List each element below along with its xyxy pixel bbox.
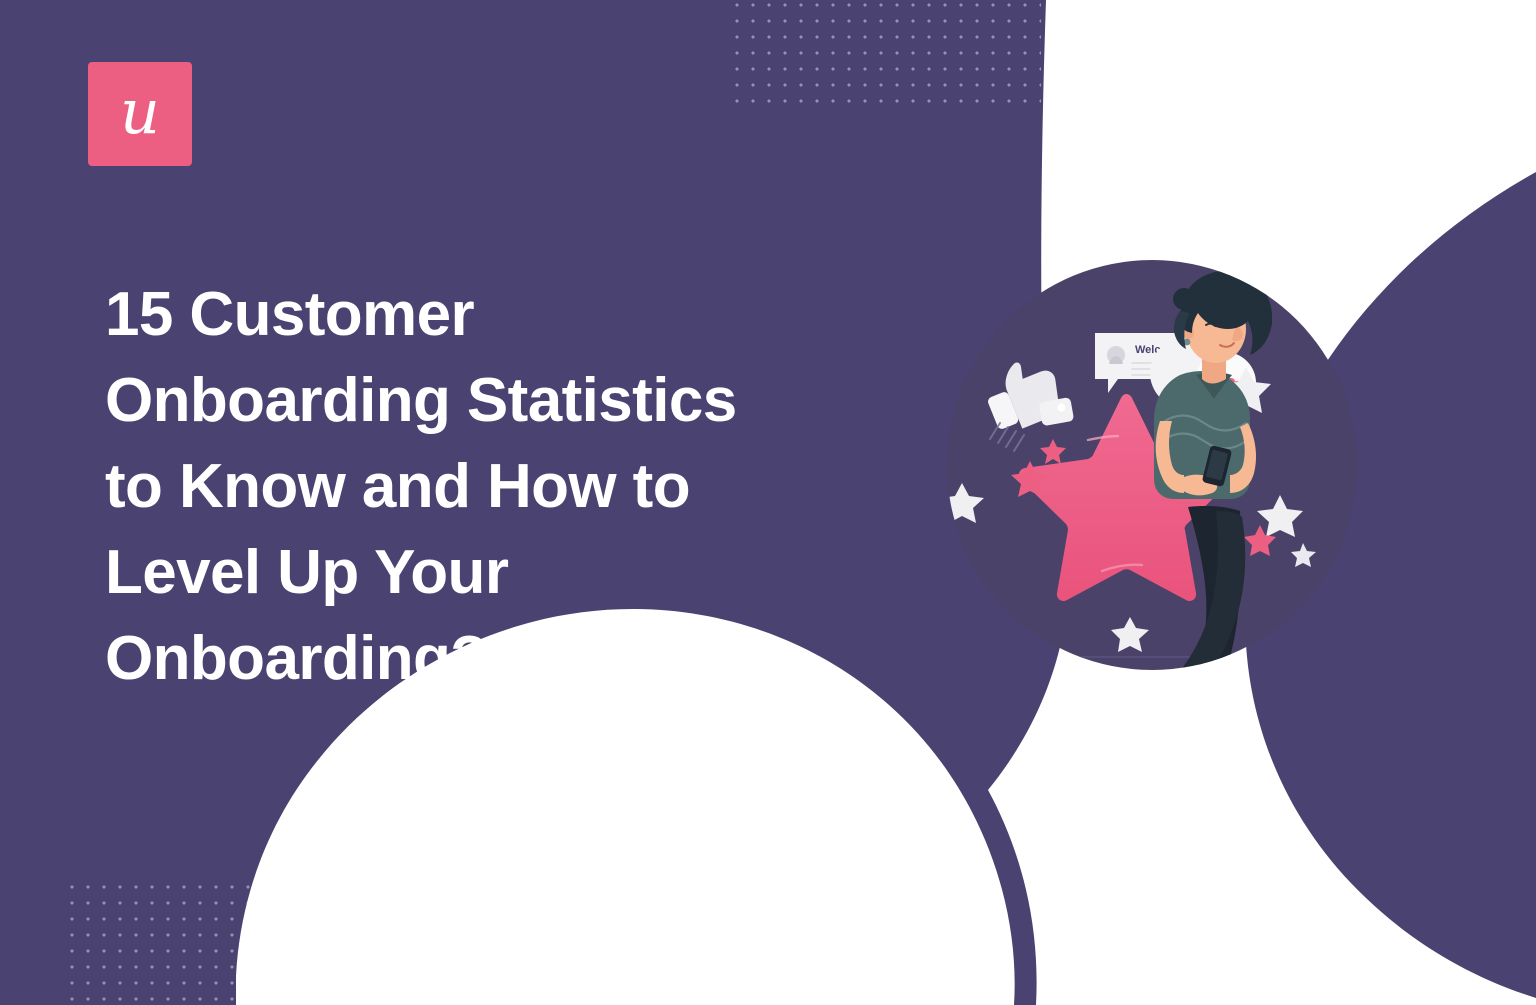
hero-illustration: Welcome! bbox=[930, 225, 1370, 705]
brand-logo[interactable]: u bbox=[88, 62, 192, 166]
featured-image-canvas: u 15 Customer Onboarding Statistics to K… bbox=[0, 0, 1536, 1005]
page-title: 15 Customer Onboarding Statistics to Kno… bbox=[105, 272, 865, 702]
sneaker-icon bbox=[1163, 674, 1232, 701]
brand-logo-glyph: u bbox=[120, 81, 160, 143]
